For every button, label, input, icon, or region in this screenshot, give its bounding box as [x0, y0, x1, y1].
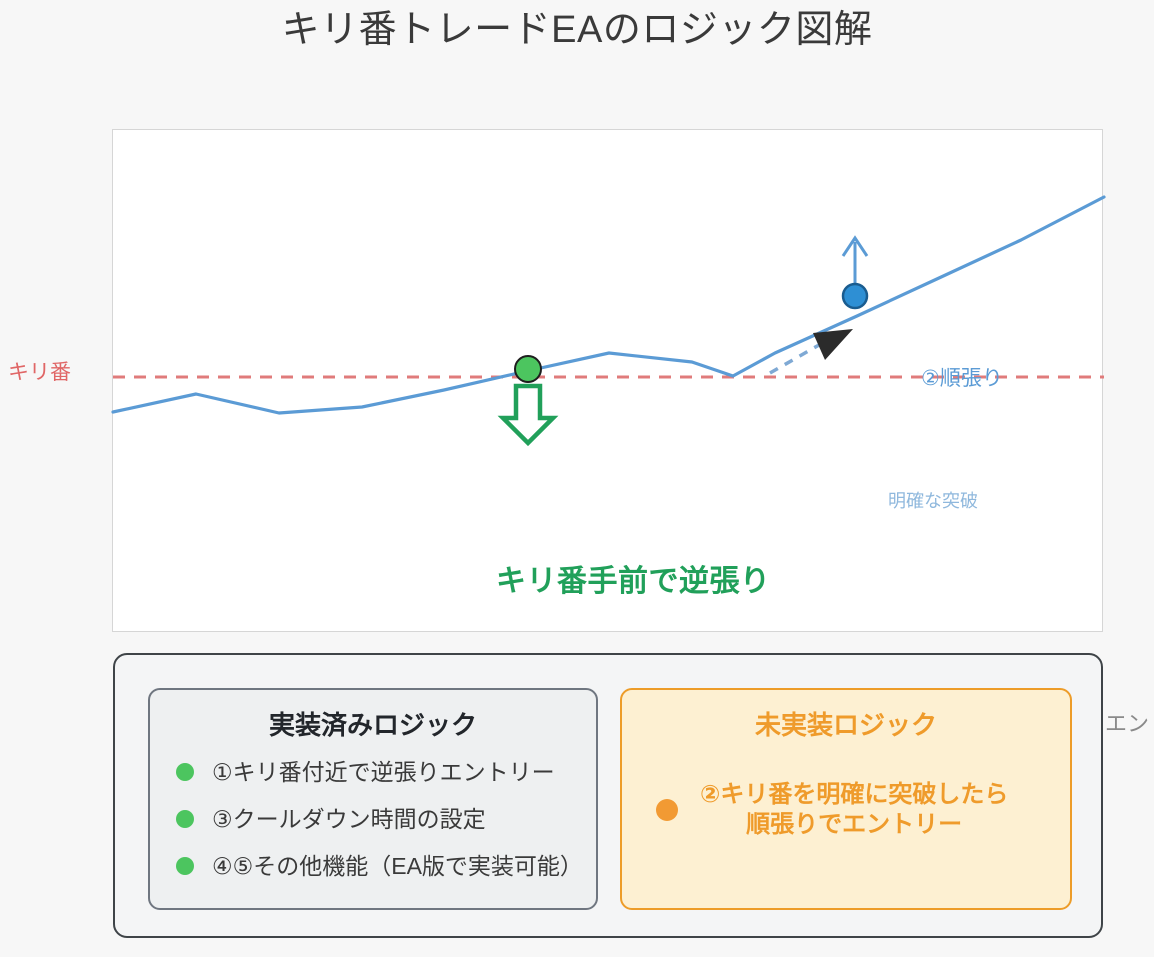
legend-unimplemented-items: ②キリ番を明確に突破したら 順張りでエントリー [622, 780, 1070, 840]
reversal-down-arrow-icon [503, 386, 553, 443]
trend-follow-entry-marker[interactable] [843, 284, 867, 308]
legend-box-implemented: 実装済みロジック ①キリ番付近で逆張りエントリー ③クールダウン時間の設定 ④⑤… [148, 688, 598, 910]
legend-implemented-title: 実装済みロジック [150, 712, 596, 738]
list-item: ①キリ番付近で逆張りエントリー [176, 758, 596, 787]
breakout-pointer-arrowhead [813, 329, 853, 360]
bullet-dot-icon [176, 857, 194, 875]
list-item: ②キリ番を明確に突破したら 順張りでエントリー [656, 780, 1070, 840]
reversal-annotation-label: キリ番手前で逆張り [496, 567, 771, 597]
reversal-entry-marker[interactable] [515, 356, 541, 382]
kiriban-axis-label: キリ番 [8, 362, 104, 383]
legend-unimplemented-title: 未実装ロジック [622, 712, 1070, 738]
legend-item-label: ①キリ番付近で逆張りエントリー [212, 758, 555, 787]
legend-item-label: ④⑤その他機能（EA版で実装可能） [212, 852, 583, 881]
chart-panel: キリ番手前で逆張り ②順張り 明確な突破 キリ番への接近：逆張りエントリー キリ… [112, 129, 1103, 632]
bullet-dot-icon [176, 763, 194, 781]
trend-follow-annotation-label: ②順張り [921, 368, 1003, 389]
legend-item-label: ②キリ番を明確に突破したら 順張りでエントリー [700, 780, 1008, 840]
list-item: ③クールダウン時間の設定 [176, 805, 596, 834]
legend-implemented-items: ①キリ番付近で逆張りエントリー ③クールダウン時間の設定 ④⑤その他機能（EA版… [150, 758, 596, 880]
legend-item-label: ③クールダウン時間の設定 [212, 805, 486, 834]
breakout-pointer-line [770, 345, 819, 373]
list-item: ④⑤その他機能（EA版で実装可能） [176, 852, 596, 881]
page-title: キリ番トレードEAのロジック図解 [0, 8, 1154, 54]
legend-container: 実装済みロジック ①キリ番付近で逆張りエントリー ③クールダウン時間の設定 ④⑤… [113, 653, 1103, 938]
bullet-dot-icon [176, 810, 194, 828]
bullet-dot-icon [656, 799, 678, 821]
legend-box-unimplemented: 未実装ロジック ②キリ番を明確に突破したら 順張りでエントリー [620, 688, 1072, 910]
breakout-annotation-label: 明確な突破 [888, 492, 978, 510]
